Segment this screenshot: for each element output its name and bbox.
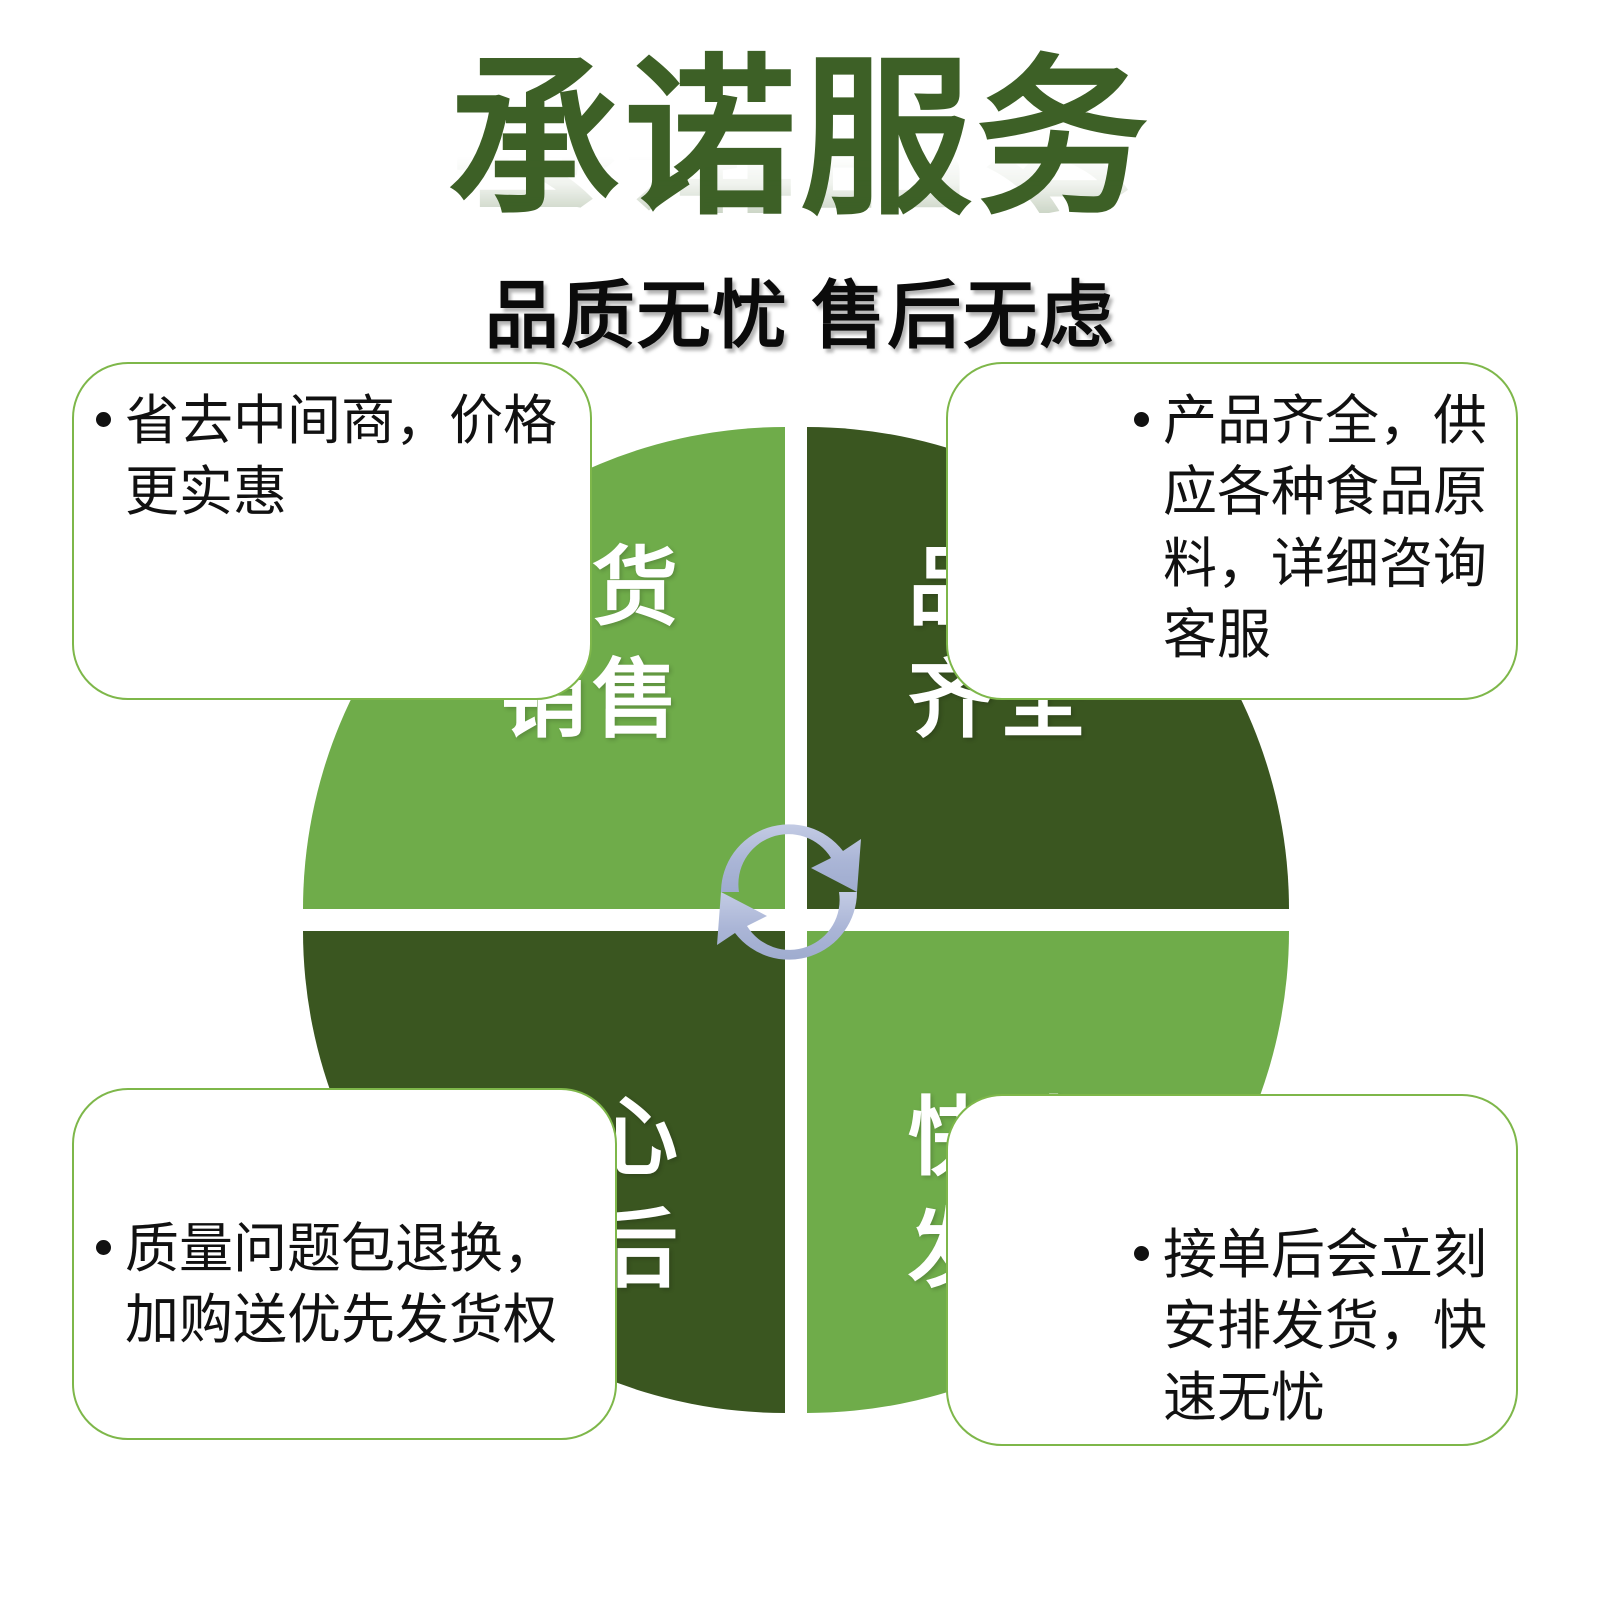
callout-text-bottom-right: 接单后会立刻安排发货，快速无忧: [1163, 1220, 1494, 1434]
bullet-row: 质量问题包退换，加购送优先发货权: [74, 1090, 615, 1357]
callout-box-bottom-right[interactable]: 接单后会立刻安排发货，快速无忧: [946, 1094, 1518, 1446]
callout-text-top-left: 省去中间商，价格更实惠: [125, 386, 572, 529]
callout-box-top-right[interactable]: 产品齐全，供应各种食品原料，详细咨询客服: [946, 362, 1518, 700]
page-subtitle: 品质无忧 售后无虑: [0, 256, 1600, 363]
bullet-dot-icon: [1134, 412, 1149, 427]
bullet-dot-icon: [1134, 1246, 1149, 1261]
callout-text-bottom-left: 质量问题包退换，加购送优先发货权: [125, 1214, 597, 1357]
bullet-row: 产品齐全，供应各种食品原料，详细咨询客服: [948, 364, 1516, 671]
callout-box-bottom-left[interactable]: 质量问题包退换，加购送优先发货权: [72, 1088, 617, 1440]
bullet-dot-icon: [96, 1240, 111, 1255]
callout-box-top-left[interactable]: 省去中间商，价格更实惠: [72, 362, 592, 700]
bullet-row: 省去中间商，价格更实惠: [74, 364, 590, 529]
bullet-dot-icon: [96, 412, 111, 427]
callout-text-top-right: 产品齐全，供应各种食品原料，详细咨询客服: [1163, 386, 1494, 671]
bullet-row: 接单后会立刻安排发货，快速无忧: [948, 1096, 1516, 1434]
page-title-reflection: 承诺服务: [0, 121, 1600, 213]
page-title: 承诺服务: [448, 52, 1152, 227]
